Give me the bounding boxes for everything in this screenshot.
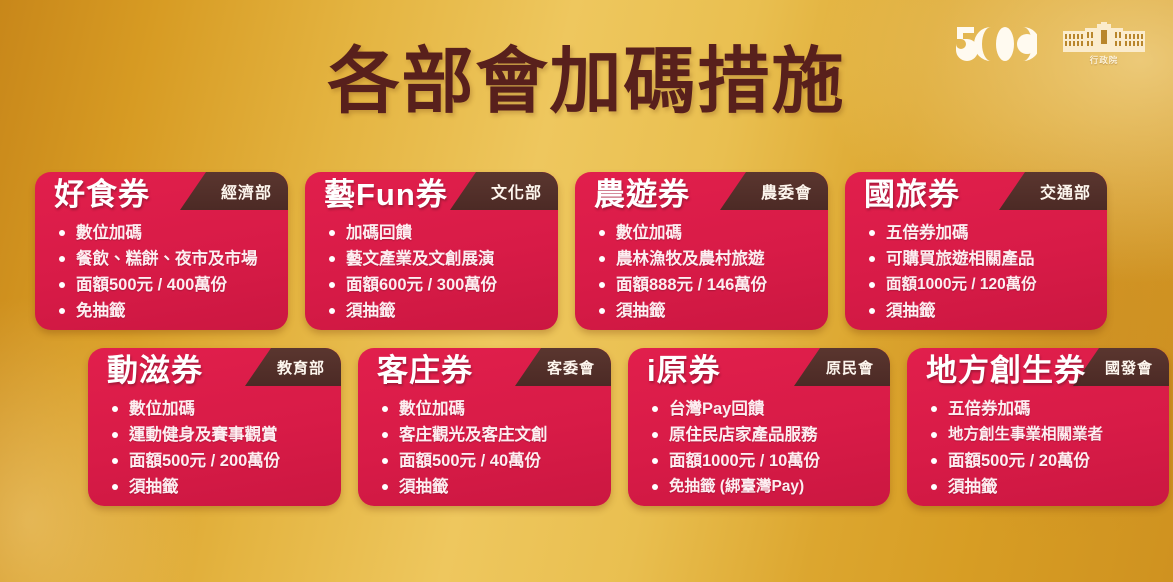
voucher-detail-list: 加碼回饋 藝文產業及文創展演 面額600元 / 300萬份 須抽籤 <box>327 220 546 324</box>
list-item: 面額500元 / 40萬份 <box>380 448 599 474</box>
voucher-card[interactable]: 交通部 國旅券 五倍券加碼 可購買旅遊相關產品 面額1000元 / 120萬份 … <box>845 172 1107 330</box>
list-item: 五倍券加碼 <box>867 220 1095 246</box>
list-item: 免抽籤 (綁臺灣Pay) <box>650 474 878 500</box>
list-item: 原住民店家產品服務 <box>650 422 878 448</box>
voucher-title: 動滋券 <box>107 352 203 390</box>
ministry-tag: 文化部 <box>450 172 558 210</box>
list-item: 台灣Pay回饋 <box>650 396 878 422</box>
list-item: 數位加碼 <box>597 220 816 246</box>
list-item: 藝文產業及文創展演 <box>327 246 546 272</box>
voucher-card[interactable]: 客委會 客庄券 數位加碼 客庄觀光及客庄文創 面額500元 / 40萬份 須抽籤 <box>358 348 611 506</box>
list-item: 面額1000元 / 120萬份 <box>867 272 1095 298</box>
voucher-detail-list: 台灣Pay回饋 原住民店家產品服務 面額1000元 / 10萬份 免抽籤 (綁臺… <box>650 396 878 500</box>
voucher-row-top: 經濟部 好食券 數位加碼 餐飲、糕餅、夜市及市場 面額500元 / 400萬份 … <box>35 172 1107 330</box>
voucher-card[interactable]: 教育部 動滋券 數位加碼 運動健身及賽事觀賞 面額500元 / 200萬份 須抽… <box>88 348 341 506</box>
list-item: 須抽籤 <box>597 298 816 324</box>
list-item: 客庄觀光及客庄文創 <box>380 422 599 448</box>
list-item: 面額500元 / 400萬份 <box>57 272 276 298</box>
ministry-tag: 交通部 <box>999 172 1107 210</box>
ministry-tag: 農委會 <box>720 172 828 210</box>
list-item: 數位加碼 <box>380 396 599 422</box>
list-item: 面額600元 / 300萬份 <box>327 272 546 298</box>
voucher-title: i原券 <box>647 352 721 390</box>
list-item: 農林漁牧及農村旅遊 <box>597 246 816 272</box>
list-item: 面額888元 / 146萬份 <box>597 272 816 298</box>
voucher-card[interactable]: 農委會 農遊券 數位加碼 農林漁牧及農村旅遊 面額888元 / 146萬份 須抽… <box>575 172 828 330</box>
list-item: 地方創生事業相關業者 <box>929 422 1157 448</box>
list-item: 可購買旅遊相關產品 <box>867 246 1095 272</box>
voucher-card[interactable]: 經濟部 好食券 數位加碼 餐飲、糕餅、夜市及市場 面額500元 / 400萬份 … <box>35 172 288 330</box>
voucher-detail-list: 數位加碼 運動健身及賽事觀賞 面額500元 / 200萬份 須抽籤 <box>110 396 329 500</box>
list-item: 須抽籤 <box>327 298 546 324</box>
list-item: 須抽籤 <box>110 474 329 500</box>
list-item: 須抽籤 <box>380 474 599 500</box>
voucher-detail-list: 數位加碼 農林漁牧及農村旅遊 面額888元 / 146萬份 須抽籤 <box>597 220 816 324</box>
list-item: 五倍券加碼 <box>929 396 1157 422</box>
list-item: 面額500元 / 200萬份 <box>110 448 329 474</box>
voucher-title: 好食券 <box>54 176 150 214</box>
ministry-tag: 國發會 <box>1073 348 1169 386</box>
voucher-title: 藝Fun券 <box>324 176 448 214</box>
voucher-title: 農遊券 <box>594 176 690 214</box>
list-item: 數位加碼 <box>57 220 276 246</box>
voucher-title: 國旅券 <box>864 176 960 214</box>
list-item: 面額1000元 / 10萬份 <box>650 448 878 474</box>
list-item: 數位加碼 <box>110 396 329 422</box>
voucher-detail-list: 數位加碼 餐飲、糕餅、夜市及市場 面額500元 / 400萬份 免抽籤 <box>57 220 276 324</box>
page-title: 各部會加碼措施 <box>0 44 1173 122</box>
list-item: 須抽籤 <box>867 298 1095 324</box>
ministry-tag: 經濟部 <box>180 172 288 210</box>
voucher-title: 地方創生券 <box>926 352 1086 390</box>
voucher-detail-list: 五倍券加碼 可購買旅遊相關產品 面額1000元 / 120萬份 須抽籤 <box>867 220 1095 324</box>
voucher-card[interactable]: 國發會 地方創生券 五倍券加碼 地方創生事業相關業者 面額500元 / 20萬份… <box>907 348 1169 506</box>
list-item: 免抽籤 <box>57 298 276 324</box>
voucher-card[interactable]: 原民會 i原券 台灣Pay回饋 原住民店家產品服務 面額1000元 / 10萬份… <box>628 348 890 506</box>
voucher-card[interactable]: 文化部 藝Fun券 加碼回饋 藝文產業及文創展演 面額600元 / 300萬份 … <box>305 172 558 330</box>
list-item: 運動健身及賽事觀賞 <box>110 422 329 448</box>
ministry-tag: 客委會 <box>515 348 611 386</box>
voucher-detail-list: 五倍券加碼 地方創生事業相關業者 面額500元 / 20萬份 須抽籤 <box>929 396 1157 500</box>
ministry-tag: 原民會 <box>794 348 890 386</box>
list-item: 加碼回饋 <box>327 220 546 246</box>
voucher-row-bottom: 教育部 動滋券 數位加碼 運動健身及賽事觀賞 面額500元 / 200萬份 須抽… <box>88 348 1169 506</box>
list-item: 面額500元 / 20萬份 <box>929 448 1157 474</box>
list-item: 餐飲、糕餅、夜市及市場 <box>57 246 276 272</box>
list-item: 須抽籤 <box>929 474 1157 500</box>
ministry-tag: 教育部 <box>245 348 341 386</box>
voucher-title: 客庄券 <box>377 352 473 390</box>
voucher-detail-list: 數位加碼 客庄觀光及客庄文創 面額500元 / 40萬份 須抽籤 <box>380 396 599 500</box>
